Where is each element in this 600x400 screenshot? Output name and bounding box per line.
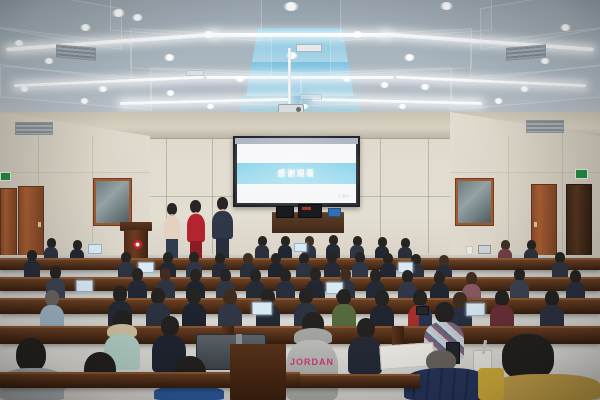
slide-headline: 感谢观看: [278, 168, 316, 179]
window-left: [93, 178, 132, 226]
desk-row: [300, 374, 420, 388]
torso: [164, 216, 180, 240]
torso: [154, 386, 224, 400]
audience-member: [348, 318, 382, 374]
bench: [230, 344, 286, 400]
lecture-hall-photo: 感谢观看 汇报人: [0, 0, 600, 400]
laptop: [88, 244, 102, 254]
downlight: [352, 31, 363, 38]
door-left-1: [0, 188, 17, 264]
head: [16, 338, 46, 372]
downlight: [203, 31, 214, 38]
torso: [492, 374, 600, 400]
downlight: [380, 82, 389, 88]
exit-sign-left: [0, 172, 11, 181]
head: [45, 290, 59, 306]
downlight: [235, 76, 245, 82]
torso: [212, 211, 233, 239]
ceiling-fixture: [296, 44, 322, 52]
projector-mount-pole: [288, 48, 291, 106]
av-indicator: [302, 207, 311, 210]
presenter-3: [212, 197, 233, 261]
head: [151, 288, 165, 304]
audience-member-mustard-coat: [492, 334, 600, 400]
torso: [24, 260, 40, 278]
av-blue-box: [328, 208, 341, 217]
torso: [348, 337, 382, 374]
laptop: [76, 280, 93, 292]
av-monitor: [276, 206, 294, 218]
audience-member: [24, 250, 40, 278]
audience-member: [255, 236, 269, 260]
mobile-phone: [416, 306, 429, 315]
downlight: [44, 58, 54, 64]
head: [161, 316, 179, 336]
head: [187, 288, 201, 304]
ceiling: [0, 0, 600, 118]
downlight: [398, 104, 407, 109]
wall-vent-right: [526, 120, 564, 133]
window-glass: [458, 181, 491, 223]
head: [113, 286, 127, 302]
downlight: [166, 90, 175, 96]
podium-emblem-icon: [132, 239, 143, 250]
downlight: [206, 104, 215, 109]
door-right-2: [566, 184, 592, 264]
downlight: [520, 86, 529, 92]
downlight: [80, 24, 91, 31]
downlight: [342, 76, 352, 82]
downlight: [560, 24, 571, 31]
door-handle-icon: [38, 222, 41, 227]
wall-seam: [508, 136, 509, 256]
downlight: [494, 98, 503, 104]
door-handle-icon: [534, 222, 537, 227]
downlight: [440, 2, 453, 10]
downlight: [20, 86, 29, 92]
downlight: [420, 84, 430, 90]
head: [495, 290, 509, 306]
cup: [466, 246, 473, 255]
downlight: [540, 58, 550, 64]
laptop: [466, 303, 485, 316]
head: [299, 288, 313, 304]
head: [357, 318, 375, 338]
audience-member: [0, 338, 66, 400]
head: [435, 302, 454, 323]
torso: [286, 340, 338, 400]
projection-screen: 感谢观看 汇报人: [233, 136, 360, 207]
laptop: [294, 243, 307, 252]
audience-member: [218, 289, 242, 331]
exit-sign-right: [575, 169, 588, 179]
downlight: [404, 54, 415, 61]
slide: 感谢观看 汇报人: [237, 144, 356, 203]
audience-member-scarf: [478, 368, 504, 400]
wall-seam: [562, 130, 563, 256]
downlight: [112, 9, 125, 17]
wall-vent-left: [15, 122, 53, 135]
ceiling-fixture: [186, 70, 204, 76]
slide-banner: 感谢观看: [237, 163, 356, 184]
window-glass: [96, 181, 129, 223]
laptop: [252, 302, 272, 315]
downlight: [283, 2, 299, 11]
slide-footnote: 汇报人: [338, 194, 350, 199]
head: [375, 290, 389, 306]
downlight: [98, 86, 108, 92]
head: [223, 289, 237, 305]
downlight: [164, 54, 175, 61]
head: [337, 289, 351, 305]
laptop: [478, 245, 491, 254]
head: [545, 290, 559, 306]
downlight: [14, 40, 24, 46]
window-right: [455, 178, 494, 226]
ceiling-fixture: [300, 94, 322, 100]
hoodie-wordmark: JORDAN: [290, 356, 334, 367]
downlight: [80, 98, 89, 104]
wall-seam: [0, 172, 150, 173]
downlight: [132, 14, 143, 21]
torso: [187, 214, 205, 242]
